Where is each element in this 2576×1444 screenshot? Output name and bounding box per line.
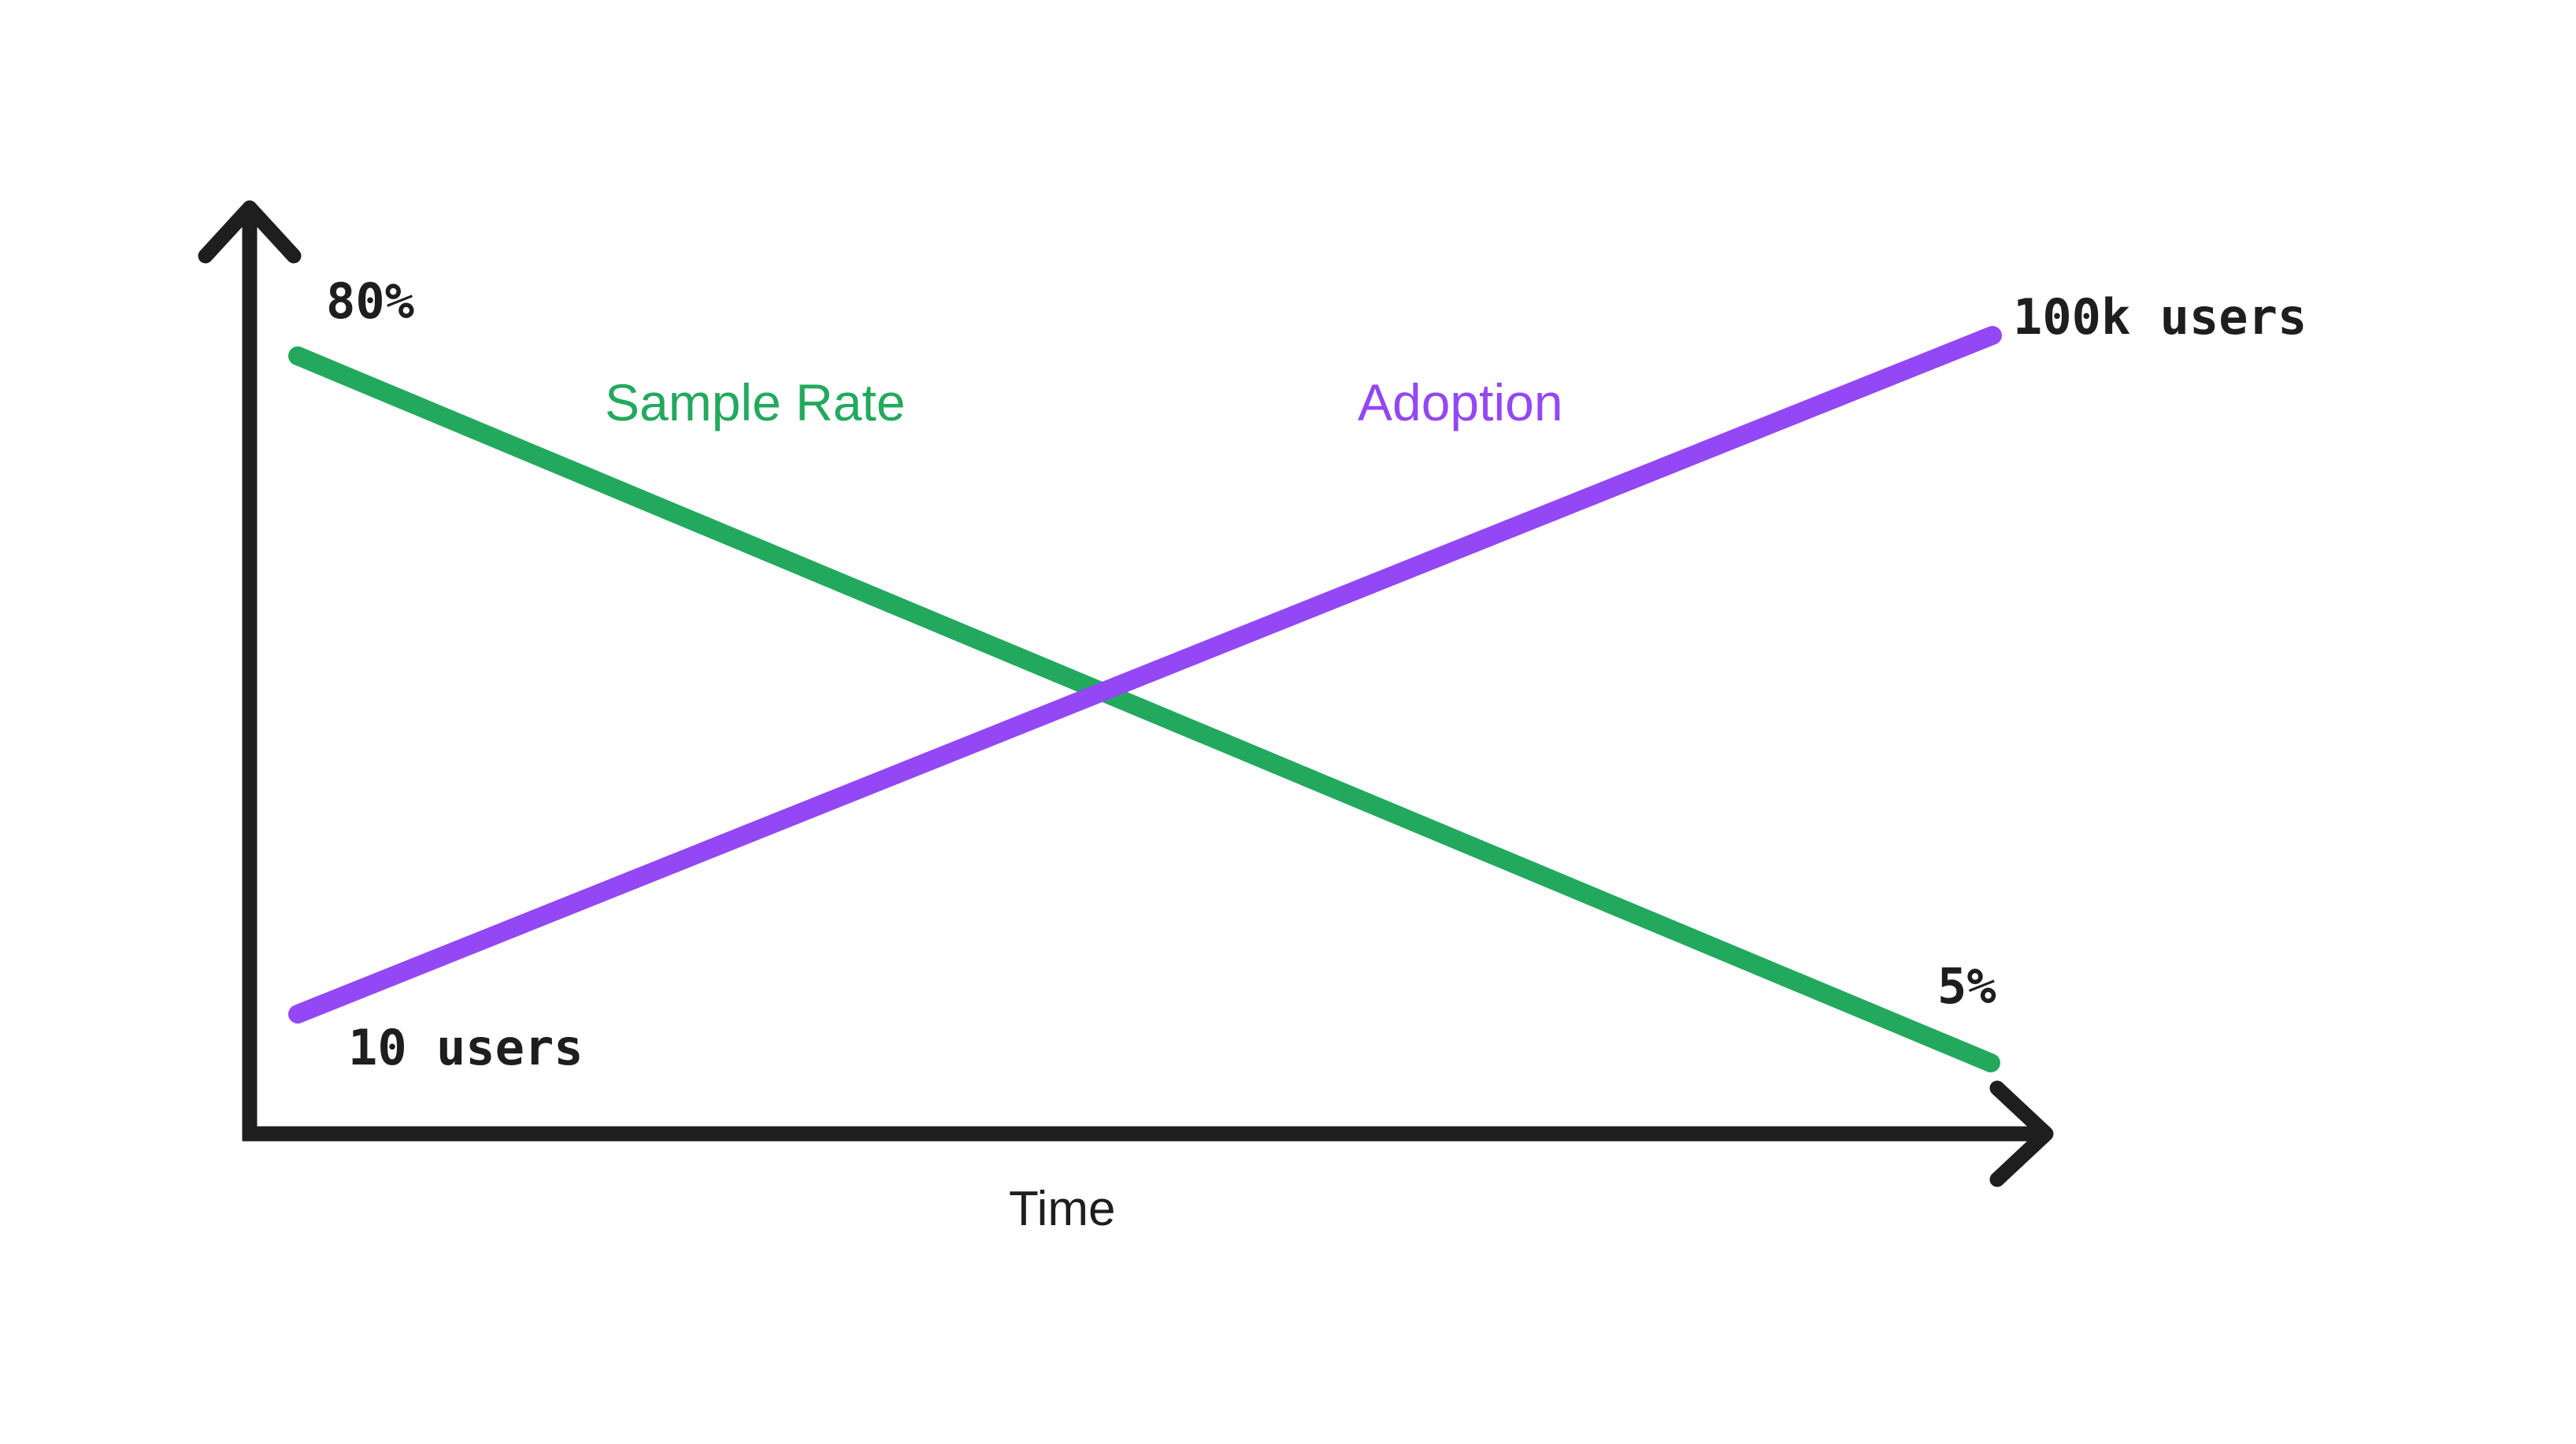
annotation-sample-rate-end: 5% <box>1937 962 1996 1011</box>
annotation-adoption-end: 100k users <box>2013 293 2307 342</box>
chart-canvas: 80% 100k users 10 users 5% Sample Rate A… <box>0 0 2576 1444</box>
chart-background <box>0 0 2576 1444</box>
chart-graphics <box>0 0 2576 1444</box>
x-axis-label: Time <box>1009 1185 1115 1234</box>
annotation-adoption-start: 10 users <box>348 1024 584 1072</box>
series-label-adoption: Adoption <box>1358 376 1563 428</box>
annotation-sample-rate-start: 80% <box>326 277 414 326</box>
series-label-sample-rate: Sample Rate <box>605 376 906 428</box>
